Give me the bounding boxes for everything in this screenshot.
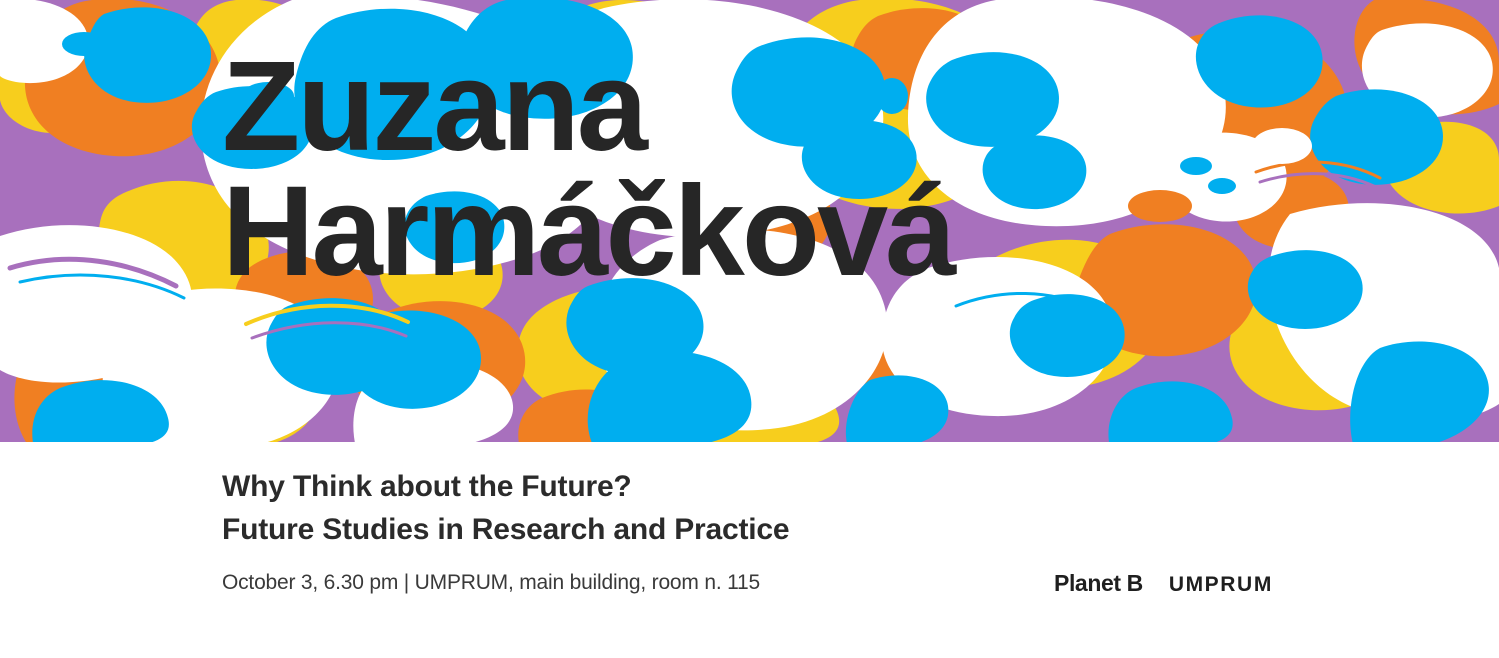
info-panel: Why Think about the Future? Future Studi… [0, 448, 1499, 658]
talk-title: Why Think about the Future? Future Studi… [222, 466, 789, 551]
umprum-logo[interactable]: UMPRUM [1169, 573, 1273, 597]
event-details: October 3, 6.30 pm | UMPRUM, main buildi… [222, 570, 760, 595]
speaker-name: Zuzana Harmáčková [222, 44, 1322, 295]
event-poster: Zuzana Harmáčková Why Think about the Fu… [0, 0, 1499, 658]
hero-banner: Zuzana Harmáčková [0, 0, 1499, 448]
speaker-family-name: Harmáčková [222, 169, 1322, 294]
planet-b-logo[interactable]: Planet B [1054, 570, 1143, 597]
logo-row: Planet B UMPRUM [1054, 570, 1273, 597]
talk-title-line-1: Why Think about the Future? [222, 466, 789, 509]
talk-title-line-2: Future Studies in Research and Practice [222, 509, 789, 552]
speaker-given-name: Zuzana [222, 44, 1322, 169]
